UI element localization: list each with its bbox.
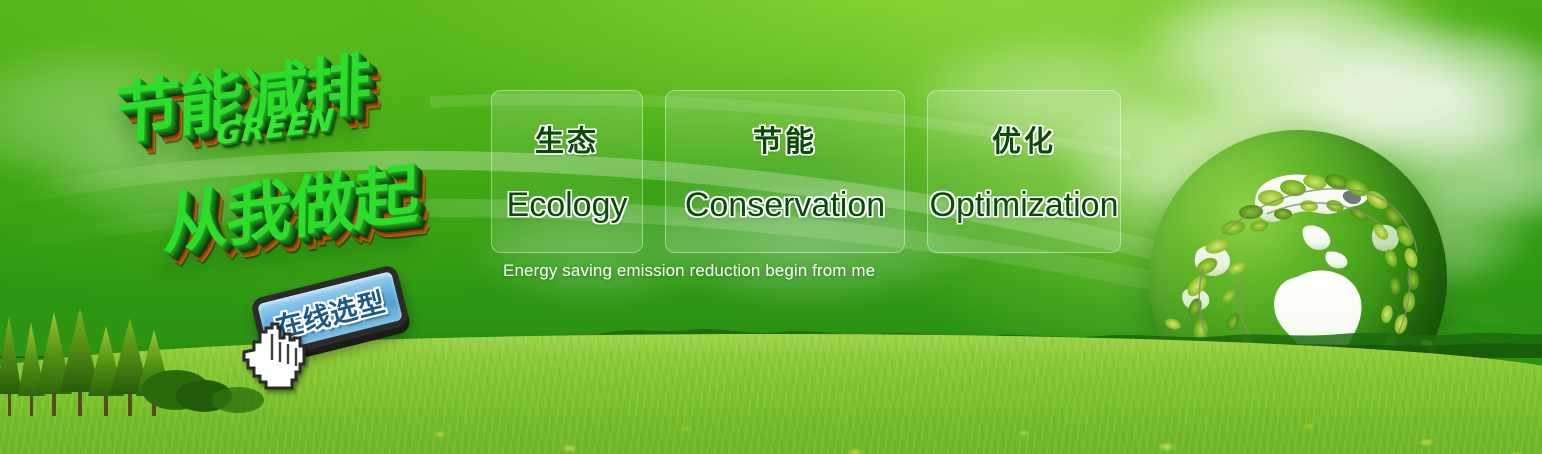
feature-card-ecology[interactable]: 生态 Ecology [491, 90, 643, 253]
feature-card-conservation[interactable]: 节能 Conservation [665, 90, 905, 253]
headline-artwork: 节能减排 GREEN 从我做起 [96, 38, 496, 268]
feature-cards: 生态 Ecology 节能 Conservation 优化 Optimizati… [491, 90, 1121, 253]
hand-pointer-icon [240, 320, 314, 396]
card-title-en: Conservation [685, 188, 885, 222]
scattered-leaves [284, 386, 1542, 454]
card-title-zh: 节能 [753, 127, 817, 156]
feature-card-optimization[interactable]: 优化 Optimization [927, 90, 1121, 253]
card-title-en: Optimization [930, 188, 1119, 222]
card-title-en: Ecology [507, 188, 628, 222]
card-title-zh: 优化 [992, 127, 1056, 156]
tagline: Energy saving emission reduction begin f… [503, 261, 875, 281]
eco-hero-banner: 节能减排 GREEN 从我做起 在线选型 生态 Ecology 节能 Conse… [0, 0, 1542, 454]
card-title-zh: 生态 [535, 127, 599, 156]
headline-line-bottom: 从我做起 [162, 140, 418, 268]
